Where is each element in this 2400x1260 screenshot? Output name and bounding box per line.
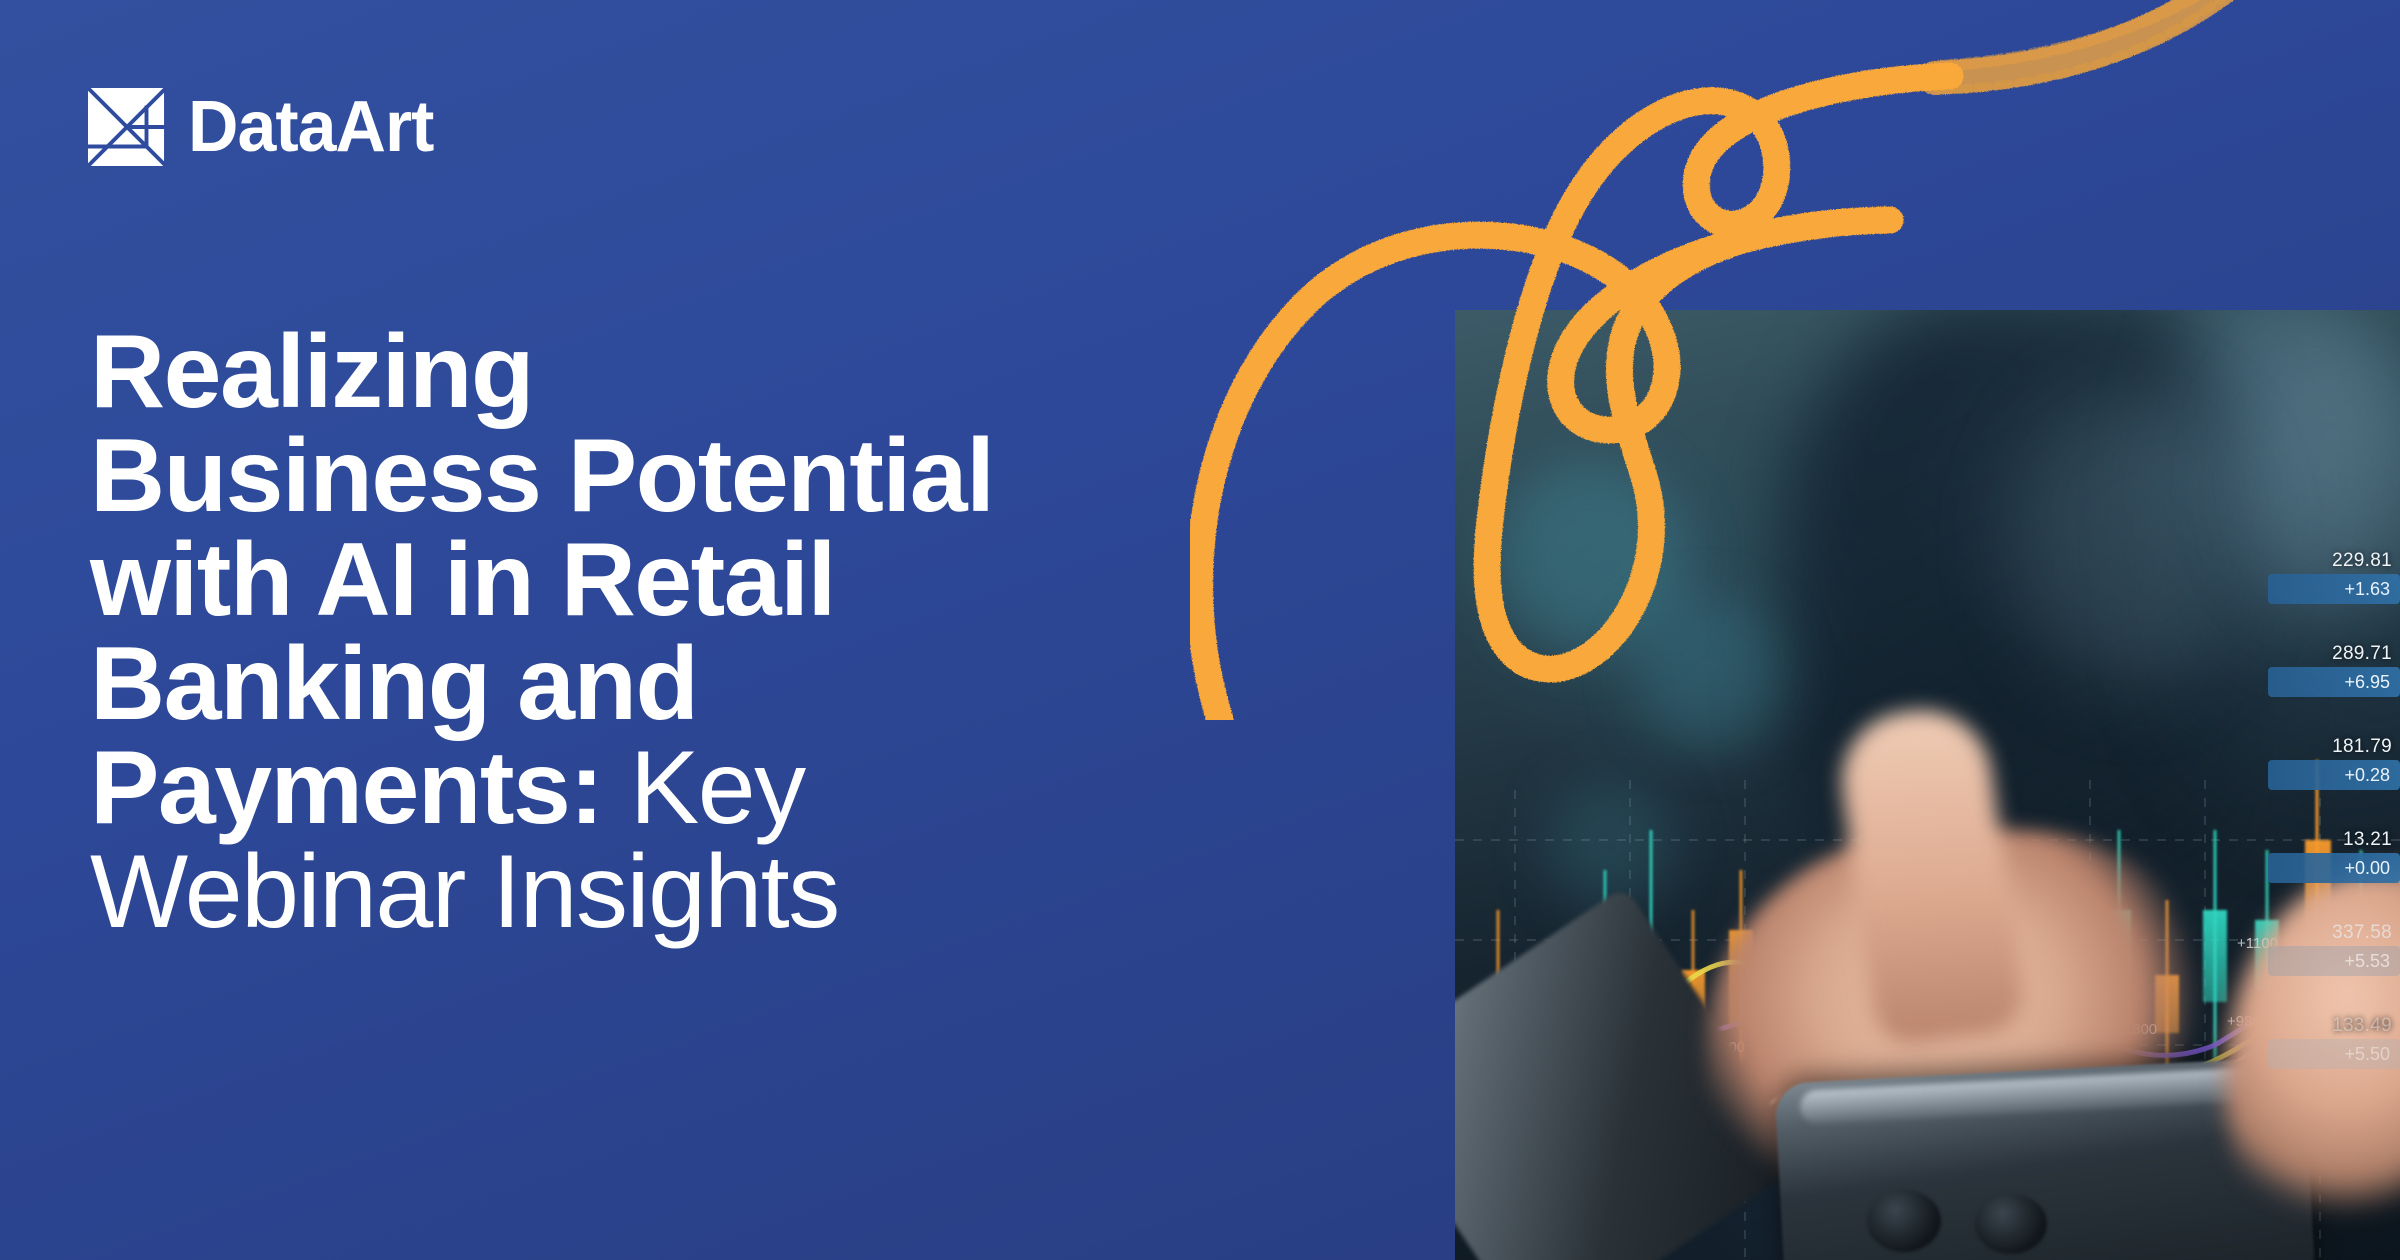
brand-name: DataArt — [188, 91, 433, 163]
camera-lens — [1975, 1194, 2047, 1254]
price-row: 337.58 +5.53 — [2250, 922, 2400, 1015]
camera-lens — [1867, 1190, 1941, 1252]
headline-line-2: Business Potential — [90, 424, 1320, 528]
brand-logo[interactable]: DataArt — [88, 88, 441, 166]
headline-emphasis: Payments: — [90, 730, 603, 846]
price-row: 289.71 +6.95 — [2250, 643, 2400, 736]
price-value: 13.21 — [2343, 829, 2392, 851]
price-row: 133.49 +5.50 — [2250, 1015, 2400, 1108]
price-row: 229.81 +1.63 — [2250, 550, 2400, 643]
page-title: Realizing Business Potential with AI in … — [90, 320, 1320, 944]
price-value: 181.79 — [2332, 736, 2392, 758]
headline-line-4: Banking and — [90, 632, 1320, 736]
headline-line-3: with AI in Retail — [90, 528, 1320, 632]
price-row: 181.79 +0.28 — [2250, 736, 2400, 829]
price-ladder: 229.81 +1.63 289.71 +6.95 181.79 +0.28 1… — [2250, 550, 2400, 1108]
headline-line-1: Realizing — [90, 320, 1320, 424]
price-value: 133.49 — [2332, 1015, 2392, 1037]
headline-line-5: Payments: Key — [90, 736, 1320, 840]
price-value: 289.71 — [2332, 643, 2392, 665]
headline-line-5-light: Key — [603, 730, 805, 846]
dataart-tangram-square-icon — [88, 88, 166, 166]
price-change: +5.50 — [2268, 1039, 2400, 1069]
price-change: +0.28 — [2268, 760, 2400, 790]
price-row: 13.21 +0.00 — [2250, 829, 2400, 922]
price-change: +5.53 — [2268, 946, 2400, 976]
price-change: +1.63 — [2268, 574, 2400, 604]
price-change: +6.95 — [2268, 667, 2400, 697]
headline-line-6: Webinar Insights — [90, 840, 1320, 944]
webinar-banner: +1500 +1610 +400 +1300 +370 +932 +2100 +… — [0, 0, 2400, 1260]
hero-photo: +1500 +1610 +400 +1300 +370 +932 +2100 +… — [1455, 310, 2400, 1260]
price-change: +0.00 — [2268, 853, 2400, 883]
price-value: 337.58 — [2332, 922, 2392, 944]
price-value: 229.81 — [2332, 550, 2392, 572]
